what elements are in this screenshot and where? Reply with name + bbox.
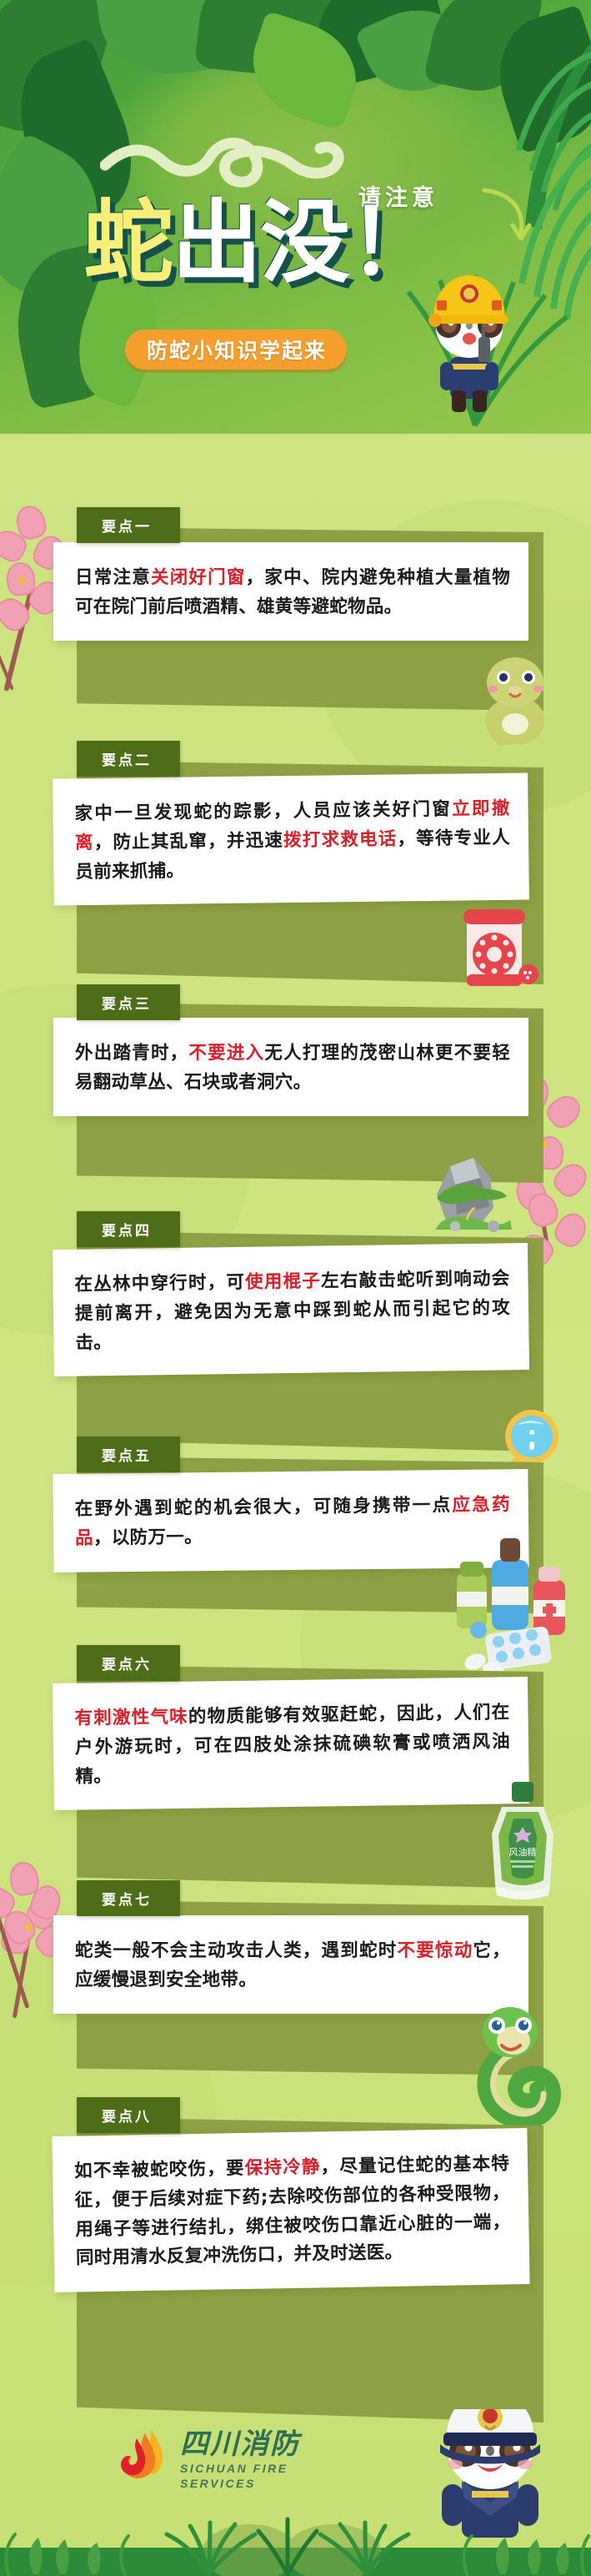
title-part-1: 蛇 [83,191,172,295]
fengyoujing-bottle-icon: 风油精 [477,1779,568,1904]
highlight-text: 拨打求救电话 [283,828,398,851]
brand-name-en-1: SICHUAN FIRE [180,2462,300,2477]
body-text: 蛇类一般不会主动攻击人类，遇到蛇时 [75,1940,398,1961]
subtitle-banner: 防蛇小知识学起来 [125,330,347,370]
tip-text-3: 外出踏青时，不要进入无人打理的茂密山林更不要轻易翻动草丛、石块或者洞穴。 [75,1039,510,1098]
page-title: 蛇出没！ [83,199,437,289]
infographic-poster: 请注意 蛇出没！ 防蛇小知识学起来 [0,0,591,2576]
curly-arrow-icon [479,185,538,252]
tip-text-8: 如不幸被蛇咬伤，要保持冷静，尽量记住蛇的基本特征，便于后续对症下药;去除咬伤部位… [74,2150,511,2273]
tip-text-4: 在丛林中穿行时，可使用棍子左右敲击蛇听到响动会提前离开，避免因为无意中踩到蛇从而… [74,1265,510,1358]
tip-text-1: 日常注意关闭好门窗，家中、院内避免种植大量植物可在院门前后喷酒精、雄黄等避蛇物品… [75,564,510,622]
body-text: 外出踏青时， [75,1043,188,1064]
tip-body-1: 日常注意关闭好门窗，家中、院内避免种植大量植物可在院门前后喷酒精、雄黄等避蛇物品… [53,542,528,641]
tip-tag-3: 要点三 [77,984,180,1020]
telephone-icon [457,898,540,998]
tip-tag-7: 要点七 [77,1880,180,1916]
tip-tag-5: 要点五 [77,1436,180,1472]
green-snake-icon [463,1989,563,2139]
subtitle-banner-label: 防蛇小知识学起来 [147,335,327,365]
panda-firefighter-mascot-icon [415,257,523,424]
highlight-text: 保持冷静 [245,2156,321,2179]
body-text: 在丛林中穿行时，可 [74,1272,245,1296]
body-text: 家中一旦发现蛇的踪影，人员应该关好门窗 [74,799,452,825]
body-text: 日常注意 [75,567,151,588]
rock-moss-icon [422,1143,522,1235]
tip-body-8: 如不幸被蛇咬伤，要保持冷静，尽量记住蛇的基本特征，便于后续对症下药;去除咬伤部位… [52,2128,529,2292]
tip-body-3: 外出踏青时，不要进入无人打理的茂密山林更不要轻易翻动草丛、石块或者洞穴。 [53,1018,528,1116]
tip-text-2: 家中一旦发现蛇的踪影，人员应该关好门窗立即撤离，防止其乱窜，并迅速拨打求救电话，… [74,795,510,888]
snake-squiggle-icon [100,127,375,194]
tip-tag-4: 要点四 [77,1211,180,1247]
body-text: ，防止其乱窜，并迅速 [94,830,284,853]
highlight-text: 不要惊动 [398,1940,473,1961]
highlight-text: 有刺激性气味 [74,1707,188,1729]
tip-text-5: 在野外遇到蛇的机会很大，可随身携带一点应急药品，以防万一。 [75,1491,511,1553]
brand-name-cn: 四川消防 [180,2421,300,2462]
svg-text:风油精: 风油精 [509,1846,537,1858]
body-text: 如不幸被蛇咬伤，要 [74,2158,245,2182]
snake-cartoon-icon [472,647,563,747]
tip-text-7: 蛇类一般不会主动攻击人类，遇到蛇时不要惊动它，应缓慢退到安全地带。 [75,1937,510,1995]
tip-tag-6: 要点六 [77,1645,180,1681]
body-text: 在野外遇到蛇的机会很大，可随身携带一点 [75,1495,453,1520]
tip-body-6: 有刺激性气味的物质能够有效驱赶蛇，因此，人们在户外游玩时，可在四肢处涂抹硫碘软膏… [53,1677,529,1810]
tip-body-2: 家中一旦发现蛇的踪影，人员应该关好门窗立即撤离，防止其乱窜，并迅速拨打求救电话，… [53,773,529,906]
poster-header: 请注意 蛇出没！ 防蛇小知识学起来 [0,0,591,434]
body-text: ，以防万一。 [93,1527,203,1548]
tip-tag-2: 要点二 [77,741,180,777]
highlight-text: 不要进入 [188,1043,264,1064]
tip-body-7: 蛇类一般不会主动攻击人类，遇到蛇时不要惊动它，应缓慢退到安全地带。 [53,1915,528,2014]
highlight-text: 使用棍子 [245,1270,321,1292]
medicine-bottles-icon [450,1530,575,1680]
grass-band-decor [0,2476,591,2576]
title-part-2: 出没！ [172,191,437,295]
poster-footer: 四川消防 SICHUAN FIRE SERVICES [0,2409,591,2576]
tip-tag-8: 要点八 [77,2097,180,2133]
tip-tag-1: 要点一 [77,507,180,543]
tip-body-4: 在丛林中穿行时，可使用棍子左右敲击蛇听到响动会提前离开，避免因为无意中踩到蛇从而… [53,1243,529,1376]
highlight-text: 关闭好门窗 [151,567,246,588]
tip-text-6: 有刺激性气味的物质能够有效驱赶蛇，因此，人们在户外游玩时，可在四肢处涂抹硫碘软膏… [74,1698,510,1792]
